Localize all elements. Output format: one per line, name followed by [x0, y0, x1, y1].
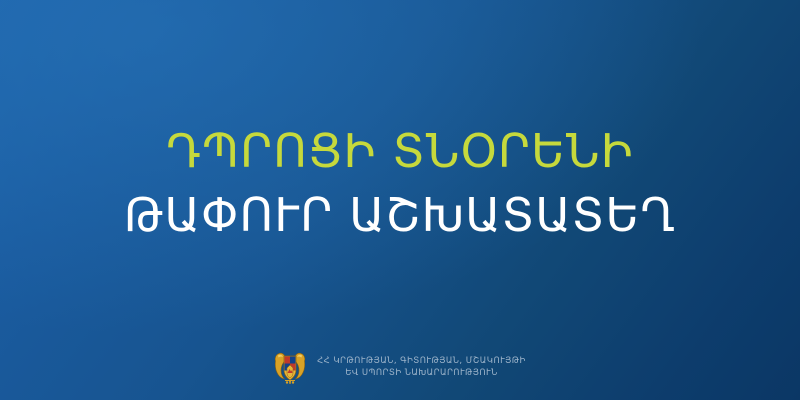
headline-line-secondary: ԹԱՓՈՒՐ ԱՇԽԱՏԱՏԵՂ: [0, 192, 800, 238]
ministry-name-line-2: ԵՎ ՍՊՈՐՏԻ ՆԱԽԱՐԱՐՈՒԹՅՈՒՆ: [317, 367, 526, 379]
ministry-name-line-1: ՀՀ ԿՐԹՈՒԹՅԱՆ, ԳԻՏՈՒԹՅԱՆ, ՄՇԱԿՈՒՅԹԻ: [317, 355, 526, 367]
footer-branding: ՀՀ ԿՐԹՈՒԹՅԱՆ, ԳԻՏՈՒԹՅԱՆ, ՄՇԱԿՈՒՅԹԻ ԵՎ ՍՊ…: [0, 348, 800, 386]
ministry-name: ՀՀ ԿՐԹՈՒԹՅԱՆ, ԳԻՏՈՒԹՅԱՆ, ՄՇԱԿՈՒՅԹԻ ԵՎ ՍՊ…: [317, 355, 526, 380]
headline-line-primary: ԴՊՐՈՑԻ ՏՆՕՐԵՆԻ: [0, 128, 800, 174]
armenia-coat-of-arms-icon: [274, 348, 306, 386]
headline-block: ԴՊՐՈՑԻ ՏՆՕՐԵՆԻ ԹԱՓՈՒՐ ԱՇԽԱՏԱՏԵՂ: [0, 128, 800, 238]
announcement-banner: ԴՊՐՈՑԻ ՏՆՕՐԵՆԻ ԹԱՓՈՒՐ ԱՇԽԱՏԱՏԵՂ: [0, 0, 800, 400]
